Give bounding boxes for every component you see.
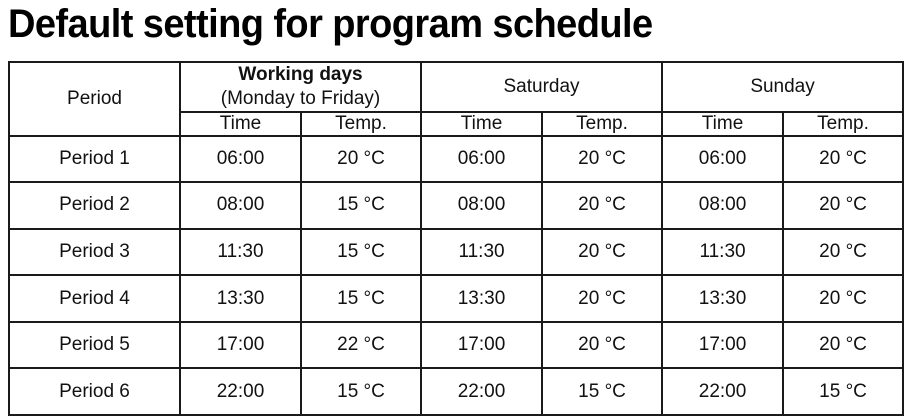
table-row: Period 6 22:00 15 °C 22:00 15 °C 22:00 1… — [9, 368, 903, 415]
cell-workingdays-temp: 20 °C — [301, 136, 421, 183]
cell-sunday-time: 08:00 — [662, 182, 783, 229]
cell-sunday-time: 06:00 — [662, 136, 783, 183]
cell-sunday-temp: 20 °C — [783, 136, 903, 183]
program-schedule-table: Period Working days (Monday to Friday) S… — [8, 61, 904, 416]
cell-workingdays-time: 13:30 — [180, 275, 301, 322]
cell-workingdays-temp: 15 °C — [301, 182, 421, 229]
cell-sunday-temp: 20 °C — [783, 275, 903, 322]
header-group-working-days-title: Working days — [181, 63, 420, 87]
cell-workingdays-time: 17:00 — [180, 322, 301, 369]
cell-saturday-temp: 20 °C — [542, 322, 662, 369]
table-row: Period 5 17:00 22 °C 17:00 20 °C 17:00 2… — [9, 322, 903, 369]
cell-workingdays-temp: 15 °C — [301, 368, 421, 415]
period-label: Period 6 — [9, 368, 180, 415]
subheader-sunday-temp: Temp. — [783, 112, 903, 136]
page-title: Default setting for program schedule — [8, 0, 855, 50]
cell-sunday-temp: 20 °C — [783, 229, 903, 276]
header-group-saturday: Saturday — [421, 62, 662, 112]
cell-sunday-temp: 15 °C — [783, 368, 903, 415]
table-header: Period Working days (Monday to Friday) S… — [9, 62, 903, 136]
schedule-table-container: Period Working days (Monday to Friday) S… — [8, 61, 900, 416]
cell-sunday-temp: 20 °C — [783, 322, 903, 369]
schedule-page: Default setting for program schedule Per… — [0, 0, 908, 418]
header-group-working-days: Working days (Monday to Friday) — [180, 62, 421, 112]
subheader-saturday-temp: Temp. — [542, 112, 662, 136]
cell-workingdays-time: 06:00 — [180, 136, 301, 183]
cell-sunday-time: 13:30 — [662, 275, 783, 322]
cell-saturday-time: 11:30 — [421, 229, 542, 276]
subheader-sunday-time: Time — [662, 112, 783, 136]
period-label: Period 2 — [9, 182, 180, 229]
cell-saturday-time: 08:00 — [421, 182, 542, 229]
cell-saturday-temp: 20 °C — [542, 229, 662, 276]
cell-saturday-time: 17:00 — [421, 322, 542, 369]
cell-saturday-time: 22:00 — [421, 368, 542, 415]
period-label: Period 4 — [9, 275, 180, 322]
cell-workingdays-temp: 22 °C — [301, 322, 421, 369]
cell-sunday-time: 17:00 — [662, 322, 783, 369]
header-row-groups: Period Working days (Monday to Friday) S… — [9, 62, 903, 112]
cell-sunday-temp: 20 °C — [783, 182, 903, 229]
cell-saturday-time: 06:00 — [421, 136, 542, 183]
table-row: Period 2 08:00 15 °C 08:00 20 °C 08:00 2… — [9, 182, 903, 229]
table-row: Period 4 13:30 15 °C 13:30 20 °C 13:30 2… — [9, 275, 903, 322]
header-period: Period — [9, 62, 180, 136]
subheader-workingdays-temp: Temp. — [301, 112, 421, 136]
cell-sunday-time: 22:00 — [662, 368, 783, 415]
cell-saturday-time: 13:30 — [421, 275, 542, 322]
cell-saturday-temp: 20 °C — [542, 275, 662, 322]
cell-workingdays-time: 08:00 — [180, 182, 301, 229]
cell-workingdays-temp: 15 °C — [301, 229, 421, 276]
cell-workingdays-temp: 15 °C — [301, 275, 421, 322]
period-label: Period 3 — [9, 229, 180, 276]
cell-workingdays-time: 22:00 — [180, 368, 301, 415]
cell-sunday-time: 11:30 — [662, 229, 783, 276]
cell-saturday-temp: 15 °C — [542, 368, 662, 415]
subheader-saturday-time: Time — [421, 112, 542, 136]
table-body: Period 1 06:00 20 °C 06:00 20 °C 06:00 2… — [9, 136, 903, 416]
header-group-working-days-subtitle: (Monday to Friday) — [181, 87, 420, 111]
period-label: Period 1 — [9, 136, 180, 183]
period-label: Period 5 — [9, 322, 180, 369]
cell-workingdays-time: 11:30 — [180, 229, 301, 276]
subheader-workingdays-time: Time — [180, 112, 301, 136]
cell-saturday-temp: 20 °C — [542, 182, 662, 229]
header-group-sunday: Sunday — [662, 62, 903, 112]
table-row: Period 3 11:30 15 °C 11:30 20 °C 11:30 2… — [9, 229, 903, 276]
table-row: Period 1 06:00 20 °C 06:00 20 °C 06:00 2… — [9, 136, 903, 183]
cell-saturday-temp: 20 °C — [542, 136, 662, 183]
